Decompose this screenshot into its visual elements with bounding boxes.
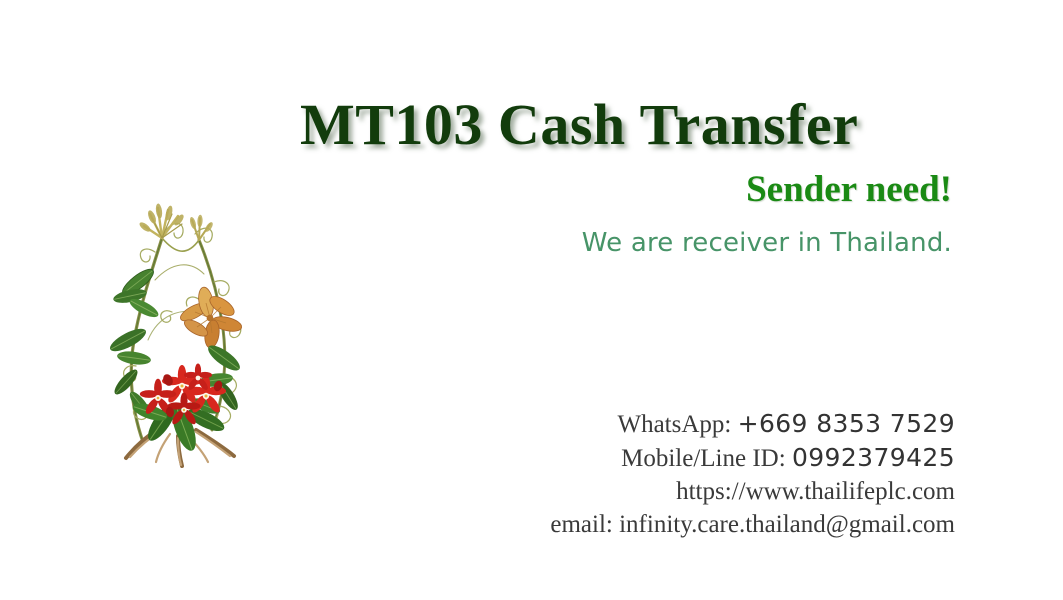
floral-botanical-illustration [100, 190, 260, 470]
contact-line-website: https://www.thailifeplc.com [470, 475, 955, 508]
poster-canvas: MT103 Cash Transfer Sender need! We are … [0, 0, 1063, 600]
whatsapp-label: WhatsApp: [617, 411, 731, 438]
contact-line-whatsapp: WhatsApp: +669 8353 7529 [470, 407, 955, 441]
orange-star-leaf [178, 286, 243, 349]
contact-line-email: email: infinity.care.thailand@gmail.com [470, 508, 955, 541]
tagline: We are receiver in Thailand. [300, 230, 952, 256]
website-url[interactable]: https://www.thailifeplc.com [676, 478, 955, 505]
seed-heads-group [138, 203, 214, 240]
email-address[interactable]: infinity.care.thailand@gmail.com [619, 511, 955, 538]
email-label: email: [550, 511, 612, 538]
subtitle: Sender need! [300, 171, 952, 208]
mobile-line-id-number[interactable]: 0992379425 [792, 443, 955, 472]
page-title: MT103 Cash Transfer [300, 96, 958, 154]
mobile-line-id-label: Mobile/Line ID: [621, 445, 786, 472]
contact-line-mobile: Mobile/Line ID: 0992379425 [470, 441, 955, 475]
contact-block: WhatsApp: +669 8353 7529 Mobile/Line ID:… [470, 407, 955, 541]
headline-block: MT103 Cash Transfer Sender need! We are … [300, 96, 958, 256]
whatsapp-number[interactable]: +669 8353 7529 [738, 409, 955, 438]
